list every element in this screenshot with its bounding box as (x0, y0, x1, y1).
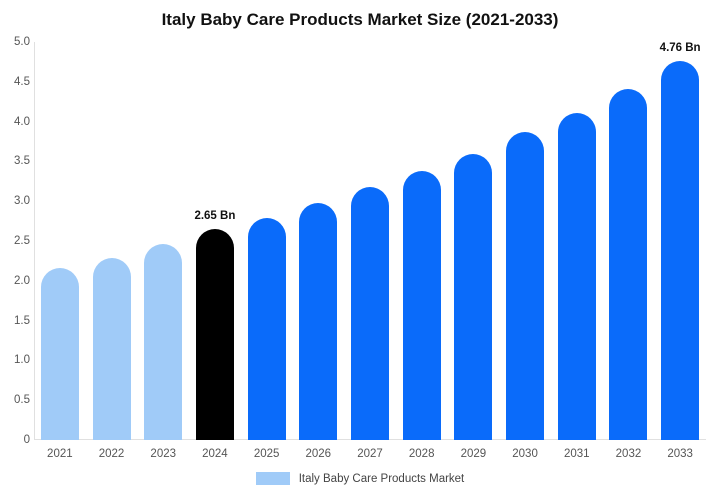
bar-slot (448, 0, 500, 440)
bar-2032[interactable] (609, 89, 647, 440)
legend: Italy Baby Care Products Market (0, 472, 720, 485)
y-axis: 5.04.54.03.53.02.52.01.51.00.50 (0, 0, 30, 500)
bar-value-label-2033: 4.76 Bn (660, 42, 701, 54)
bar-2031[interactable] (558, 113, 596, 440)
bar-slot (344, 0, 396, 440)
bar-2027[interactable] (351, 187, 389, 440)
bar-2023[interactable] (144, 244, 182, 440)
bar-2021[interactable] (41, 268, 79, 440)
bar-slot (499, 0, 551, 440)
y-axis-tick-label: 4.0 (0, 116, 30, 128)
bar-2028[interactable] (403, 171, 441, 440)
y-axis-tick-label: 0 (0, 434, 30, 446)
bar-slot: 4.76 Bn (654, 0, 706, 440)
bars-layer: 2.65 Bn4.76 Bn (34, 0, 706, 500)
y-axis-tick-label: 1.5 (0, 315, 30, 327)
bar-slot (603, 0, 655, 440)
bar-2033[interactable] (661, 61, 699, 440)
x-axis-tick-label-2024: 2024 (189, 448, 241, 460)
y-axis-tick-label: 0.5 (0, 394, 30, 406)
x-axis-tick-label-2021: 2021 (34, 448, 86, 460)
bar-chart: Italy Baby Care Products Market Size (20… (0, 0, 720, 500)
bar-2025[interactable] (248, 218, 286, 440)
x-axis-tick-label-2030: 2030 (499, 448, 551, 460)
bar-2024[interactable] (196, 229, 234, 440)
x-axis-tick-label-2031: 2031 (551, 448, 603, 460)
bar-slot (86, 0, 138, 440)
bar-slot (292, 0, 344, 440)
x-axis-tick-label-2032: 2032 (603, 448, 655, 460)
x-axis-tick-label-2023: 2023 (137, 448, 189, 460)
bar-value-label-2024: 2.65 Bn (194, 210, 235, 222)
bar-2029[interactable] (454, 154, 492, 440)
x-axis-tick-label-2026: 2026 (292, 448, 344, 460)
x-axis-tick-label-2033: 2033 (654, 448, 706, 460)
bar-2026[interactable] (299, 203, 337, 440)
bar-2022[interactable] (93, 258, 131, 440)
bar-2030[interactable] (506, 132, 544, 440)
y-axis-tick-label: 2.0 (0, 275, 30, 287)
bar-slot (137, 0, 189, 440)
legend-swatch-italy-baby-care-products-market (256, 472, 290, 485)
y-axis-tick-label: 2.5 (0, 235, 30, 247)
x-axis-tick-label-2025: 2025 (241, 448, 293, 460)
bar-slot (396, 0, 448, 440)
x-axis-tick-label-2029: 2029 (448, 448, 500, 460)
y-axis-tick-label: 3.5 (0, 155, 30, 167)
bar-slot (551, 0, 603, 440)
x-axis: 2021202220232024202520262027202820292030… (34, 448, 706, 470)
legend-label-italy-baby-care-products-market: Italy Baby Care Products Market (299, 473, 465, 485)
y-axis-tick-label: 4.5 (0, 76, 30, 88)
y-axis-tick-label: 3.0 (0, 195, 30, 207)
y-axis-tick-label: 5.0 (0, 36, 30, 48)
y-axis-tick-label: 1.0 (0, 354, 30, 366)
bar-slot (241, 0, 293, 440)
bar-slot (34, 0, 86, 440)
x-axis-tick-label-2028: 2028 (396, 448, 448, 460)
x-axis-tick-label-2027: 2027 (344, 448, 396, 460)
x-axis-tick-label-2022: 2022 (86, 448, 138, 460)
bar-slot: 2.65 Bn (189, 0, 241, 440)
